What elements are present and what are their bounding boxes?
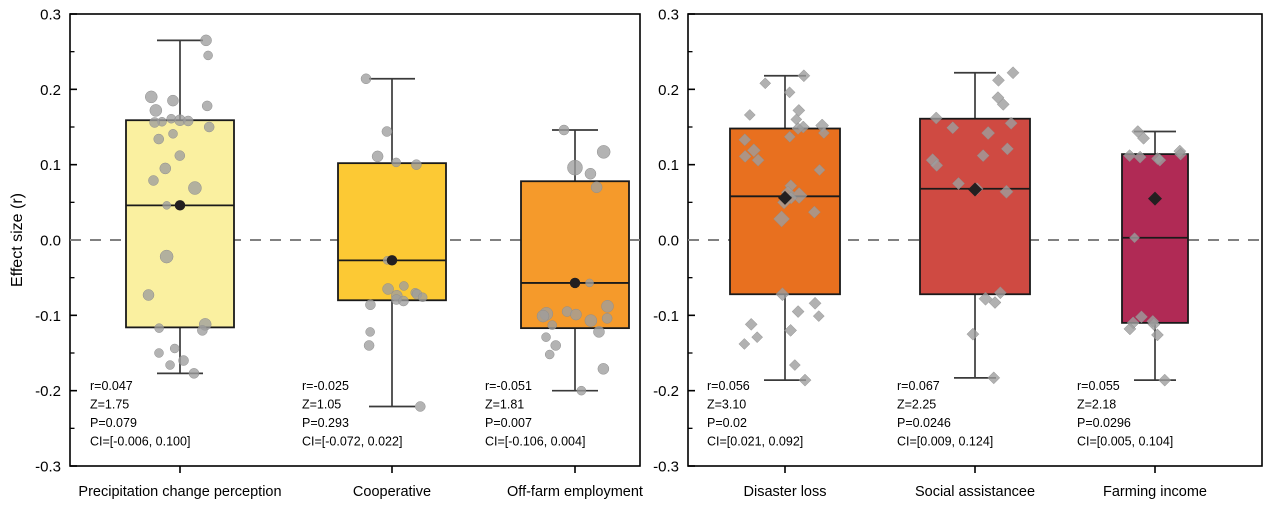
y-tick-label: -0.3 <box>653 459 679 476</box>
data-point-circle <box>188 182 201 195</box>
stat-p: P=0.0296 <box>1077 416 1131 430</box>
data-point-circle <box>150 104 162 116</box>
data-point-circle <box>551 340 561 350</box>
data-point-circle <box>183 116 193 126</box>
stat-p: P=0.02 <box>707 416 747 430</box>
x-axis-label-2: Off-farm employment <box>507 484 643 500</box>
data-point-circle <box>197 325 207 335</box>
y-tick-label: 0.2 <box>658 82 679 99</box>
y-tick-label: 0.1 <box>658 157 679 174</box>
y-tick-label: -0.2 <box>35 383 61 400</box>
data-point-circle <box>155 324 164 333</box>
stat-ci: CI=[-0.106, 0.004] <box>485 435 585 449</box>
stat-r: r=0.055 <box>1077 379 1120 393</box>
data-point-circle <box>392 158 401 167</box>
x-axis-label-2: Farming income <box>1103 484 1207 500</box>
stat-r: r=-0.025 <box>302 379 349 393</box>
x-axis-label-1: Social assistancee <box>915 484 1035 500</box>
y-tick-label: 0.3 <box>658 7 679 24</box>
data-point-circle <box>372 151 383 162</box>
data-point-circle <box>175 151 185 161</box>
data-point-circle <box>598 363 609 374</box>
data-point-circle <box>204 122 214 132</box>
boxplot-figure: 0.30.20.10.0-0.1-0.2-0.3Precipitation ch… <box>0 0 1269 507</box>
stat-ci: CI=[0.005, 0.104] <box>1077 435 1173 449</box>
data-point-circle <box>202 101 212 111</box>
y-tick-label: 0.0 <box>658 233 679 250</box>
stat-z: Z=1.75 <box>90 398 129 412</box>
stat-z: Z=1.05 <box>302 398 341 412</box>
data-point-circle <box>537 310 549 322</box>
y-tick-label: -0.1 <box>653 308 679 325</box>
y-tick-label: -0.3 <box>35 459 61 476</box>
data-point-circle <box>166 361 175 370</box>
data-point-circle <box>169 129 178 138</box>
data-point-circle <box>586 279 594 287</box>
data-point-circle <box>570 309 581 320</box>
data-point-circle <box>154 134 164 144</box>
stat-ci: CI=[-0.072, 0.022] <box>302 435 402 449</box>
data-point-circle <box>170 344 179 353</box>
y-tick-label: -0.1 <box>35 308 61 325</box>
figure-root: 0.30.20.10.0-0.1-0.2-0.3Precipitation ch… <box>0 0 1269 507</box>
stat-p: P=0.0246 <box>897 416 951 430</box>
data-point-circle <box>418 293 427 302</box>
stat-ci: CI=[0.009, 0.124] <box>897 435 993 449</box>
data-point-circle <box>143 289 154 300</box>
data-point-circle <box>160 163 171 174</box>
data-point-circle <box>577 386 586 395</box>
stat-r: r=0.047 <box>90 379 133 393</box>
data-point-circle <box>545 350 554 359</box>
box-rect[interactable] <box>920 119 1030 295</box>
x-axis-label-0: Disaster loss <box>744 484 827 500</box>
data-point-circle <box>204 51 213 60</box>
data-point-circle <box>585 315 597 327</box>
stat-r: r=0.056 <box>707 379 750 393</box>
x-axis-label-1: Cooperative <box>353 484 431 500</box>
data-point-circle <box>585 168 596 179</box>
data-point-circle <box>548 321 557 330</box>
data-point-circle <box>399 281 408 290</box>
mean-marker <box>387 255 397 265</box>
data-point-circle <box>593 326 604 337</box>
data-point-circle <box>148 175 158 185</box>
data-point-circle <box>145 91 157 103</box>
data-point-circle <box>542 333 551 342</box>
data-point-circle <box>602 313 612 323</box>
plot-panel-left: 0.30.20.10.0-0.1-0.2-0.3Precipitation ch… <box>35 7 643 501</box>
stat-z: Z=2.18 <box>1077 398 1116 412</box>
data-point-circle <box>601 300 613 312</box>
data-point-circle <box>597 145 610 158</box>
stat-ci: CI=[-0.006, 0.100] <box>90 435 190 449</box>
data-point-circle <box>567 160 582 175</box>
data-point-circle <box>160 250 173 263</box>
data-point-circle <box>361 74 371 84</box>
data-point-circle <box>167 114 176 123</box>
y-tick-label: 0.1 <box>40 157 61 174</box>
stat-p: P=0.079 <box>90 416 137 430</box>
y-tick-label: 0.3 <box>40 7 61 24</box>
stat-z: Z=2.25 <box>897 398 936 412</box>
data-point-circle <box>201 35 212 46</box>
stat-z: Z=3.10 <box>707 398 746 412</box>
plot-panel-right: 0.30.20.10.0-0.1-0.2-0.3Disaster lossSoc… <box>653 7 1262 501</box>
y-tick-label: -0.2 <box>653 383 679 400</box>
data-point-circle <box>591 182 602 193</box>
x-axis-label-0: Precipitation change perception <box>78 484 281 500</box>
stat-p: P=0.007 <box>485 416 532 430</box>
y-tick-label: 0.0 <box>40 233 61 250</box>
stat-p: P=0.293 <box>302 416 349 430</box>
data-point-circle <box>411 160 421 170</box>
data-point-circle <box>167 95 178 106</box>
data-point-circle <box>189 368 199 378</box>
data-point-circle <box>150 117 160 127</box>
y-axis-title: Effect size (r) <box>9 193 26 287</box>
data-point-circle <box>559 125 569 135</box>
mean-marker <box>175 200 185 210</box>
data-point-circle <box>154 349 163 358</box>
data-point-circle <box>382 127 392 137</box>
data-point-circle <box>365 300 375 310</box>
data-point-circle <box>415 401 425 411</box>
box-rect[interactable] <box>338 163 446 300</box>
stat-z: Z=1.81 <box>485 398 524 412</box>
data-point-circle <box>364 340 374 350</box>
y-tick-label: 0.2 <box>40 82 61 99</box>
stat-ci: CI=[0.021, 0.092] <box>707 435 803 449</box>
stat-r: r=0.067 <box>897 379 940 393</box>
data-point-circle <box>179 356 189 366</box>
data-point-circle <box>163 201 171 209</box>
mean-marker <box>570 278 580 288</box>
data-point-circle <box>366 327 375 336</box>
data-point-circle <box>398 296 408 306</box>
stat-r: r=-0.051 <box>485 379 532 393</box>
